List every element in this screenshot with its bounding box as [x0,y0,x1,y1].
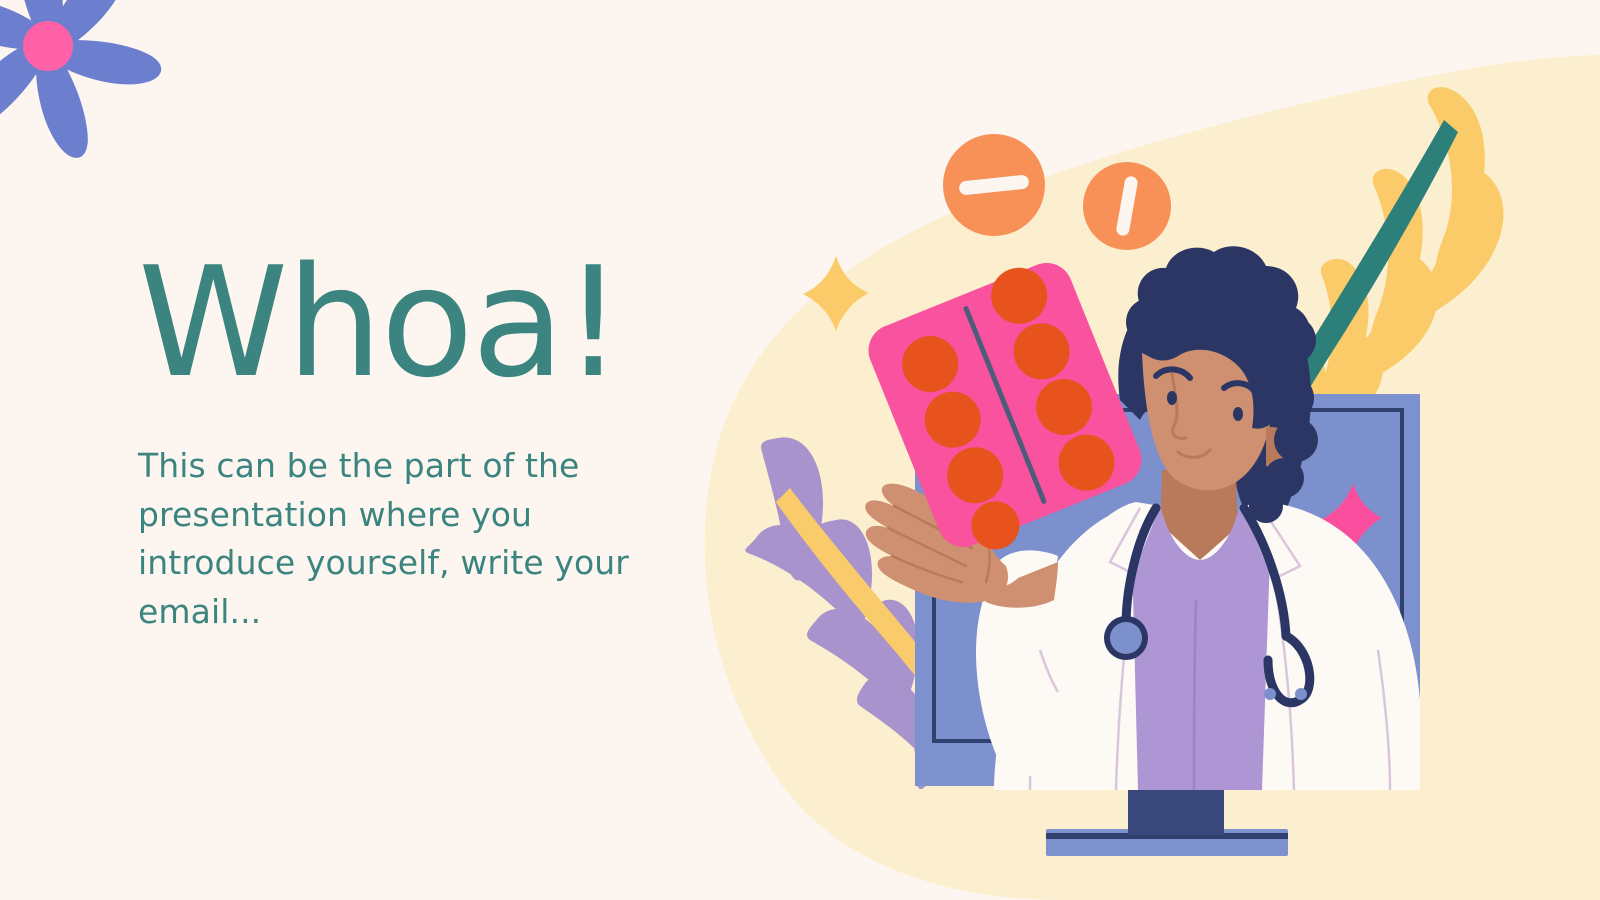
text-block: Whoa! This can be the part of the presen… [138,245,738,636]
page-subtitle: This can be the part of the presentation… [138,442,683,636]
orange-pill-tablet-right [1083,162,1171,250]
yellow-sparkle-icon [803,256,869,331]
slide-root: Whoa! This can be the part of the presen… [0,0,1600,900]
orange-pill-tablet-left [943,134,1045,236]
page-title: Whoa! [138,245,738,400]
